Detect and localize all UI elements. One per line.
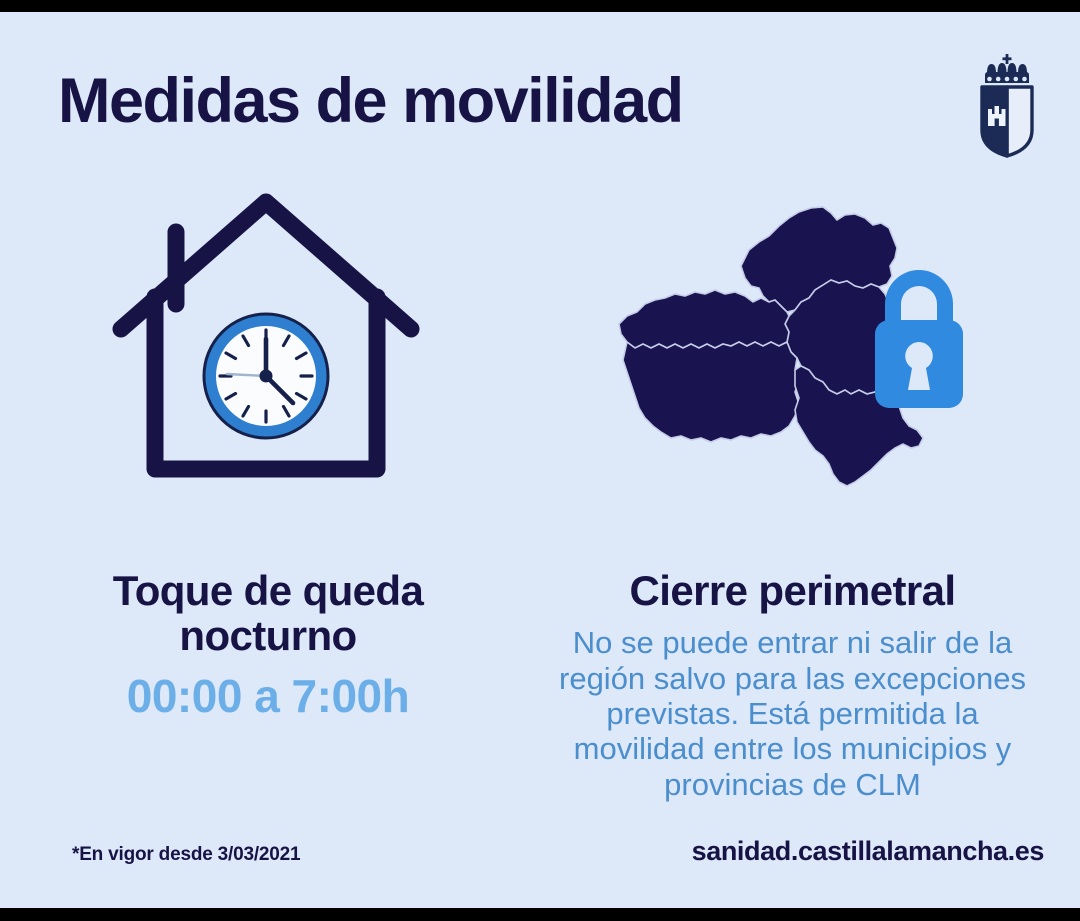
house-clock-icon [103, 184, 433, 514]
perimeter-body: No se puede entrar ni salir de la región… [520, 625, 1065, 802]
effective-date-note: *En vigor desde 3/03/2021 [72, 844, 300, 866]
curfew-artwork [18, 172, 518, 532]
poster-canvas: Medidas de movilidad [0, 12, 1080, 908]
curfew-hours: 00:00 a 7:00h [18, 673, 518, 719]
infographic-poster: Medidas de movilidad [0, 0, 1080, 921]
perimeter-artwork [520, 172, 1065, 532]
clock-face [204, 314, 328, 438]
curfew-headline: Toque de queda nocturno [18, 568, 518, 659]
page-title: Medidas de movilidad [58, 70, 683, 133]
perimeter-headline: Cierre perimetral [520, 568, 1065, 613]
section-perimeter: Cierre perimetral No se puede entrar ni … [520, 172, 1065, 872]
padlock-icon [875, 270, 963, 408]
letterbox-top [0, 0, 1080, 12]
letterbox-bottom [0, 908, 1080, 921]
map-padlock-icon [583, 182, 1003, 517]
poster-header: Medidas de movilidad [0, 12, 1080, 187]
coat-of-arms-logo [976, 52, 1038, 160]
website-url[interactable]: sanidad.castillalamancha.es [692, 836, 1044, 867]
section-curfew: Toque de queda nocturno 00:00 a 7:00h [18, 172, 518, 872]
